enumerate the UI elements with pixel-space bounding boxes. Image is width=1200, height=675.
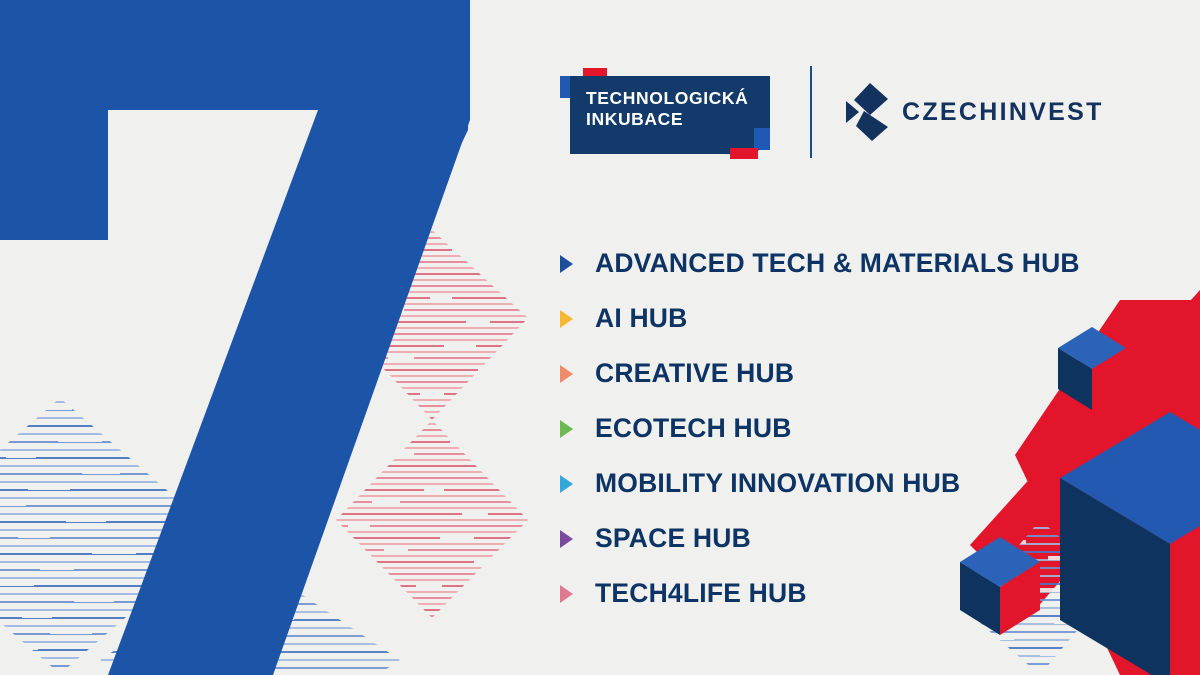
hub-label: TECH4LIFE HUB — [595, 578, 807, 609]
czechinvest-mark-icon — [846, 83, 888, 141]
triangle-bullet-icon — [560, 310, 574, 328]
triangle-bullet-icon — [560, 255, 574, 273]
hub-list-item-advanced-tech-materials-hub[interactable]: ADVANCED TECH & MATERIALS HUB — [560, 236, 1180, 291]
triangle-bullet-icon — [560, 530, 574, 548]
hub-label: MOBILITY INNOVATION HUB — [595, 468, 960, 499]
badge-corner-red-bottomright — [730, 148, 758, 159]
logo-lockup: TECHNOLOGICKÁ INKUBACE CZECHINVEST — [558, 66, 1104, 158]
logo-divider — [810, 66, 812, 158]
hub-label: ADVANCED TECH & MATERIALS HUB — [595, 248, 1080, 279]
triangle-bullet-icon — [560, 420, 574, 438]
hub-list-item-tech4life-hub[interactable]: TECH4LIFE HUB — [560, 566, 1180, 621]
incubator-logo-text: TECHNOLOGICKÁ INKUBACE — [586, 88, 748, 130]
czechinvest-logo[interactable]: CZECHINVEST — [846, 83, 1104, 141]
czechinvest-wordmark: CZECHINVEST — [902, 98, 1104, 127]
triangle-bullet-icon — [560, 475, 574, 493]
hub-list-item-ecotech-hub[interactable]: ECOTECH HUB — [560, 401, 1180, 456]
hub-label: SPACE HUB — [595, 523, 751, 554]
hub-list-item-ai-hub[interactable]: AI HUB — [560, 291, 1180, 346]
hub-list-item-space-hub[interactable]: SPACE HUB — [560, 511, 1180, 566]
technologicka-inkubace-logo[interactable]: TECHNOLOGICKÁ INKUBACE — [558, 66, 780, 158]
triangle-bullet-icon — [560, 585, 574, 603]
hub-list-item-mobility-innovation-hub[interactable]: MOBILITY INNOVATION HUB — [560, 456, 1180, 511]
hub-label: AI HUB — [595, 303, 687, 334]
badge-corner-blue-bottomright — [754, 128, 770, 150]
hub-label: ECOTECH HUB — [595, 413, 792, 444]
hub-label: CREATIVE HUB — [595, 358, 794, 389]
hub-list-item-creative-hub[interactable]: CREATIVE HUB — [560, 346, 1180, 401]
triangle-bullet-icon — [560, 365, 574, 383]
hub-list: ADVANCED TECH & MATERIALS HUB AI HUB CRE… — [560, 236, 1180, 621]
poster-canvas: TECHNOLOGICKÁ INKUBACE CZECHINVEST ADVAN… — [0, 0, 1200, 675]
